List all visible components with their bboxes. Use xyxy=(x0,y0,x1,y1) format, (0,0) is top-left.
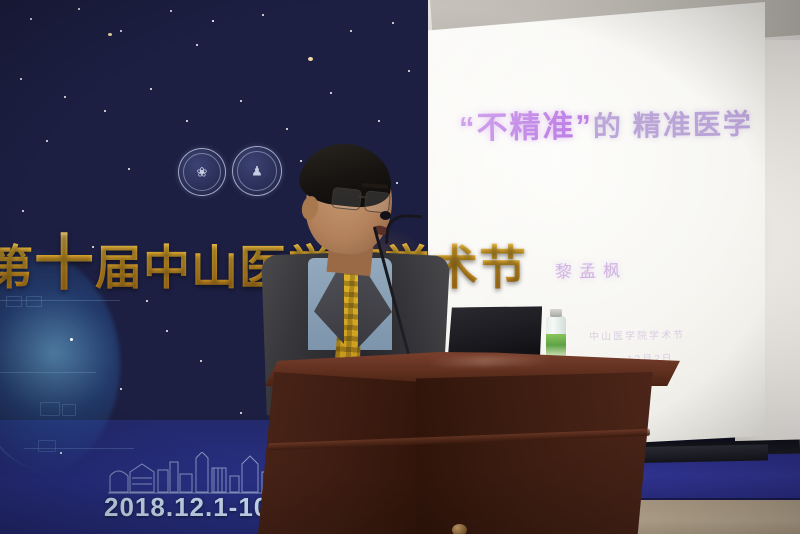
bottle-cap xyxy=(550,309,562,317)
podium-highlight xyxy=(430,355,550,367)
laptop-screen xyxy=(446,304,544,359)
podium-front-left xyxy=(258,372,418,534)
banner-tech-box xyxy=(40,402,60,416)
slide-title-highlight: “不精准” xyxy=(459,108,594,145)
banner-headline-numeral: 十 xyxy=(34,230,95,297)
lens-left xyxy=(331,187,362,211)
banner-date: 2018.12.1-10 xyxy=(104,492,269,523)
sun-yat-sen-university-emblem: ❀ xyxy=(178,148,226,196)
banner-tech-box xyxy=(38,440,56,452)
podium-front-right xyxy=(416,372,668,534)
slide-title: “不精准”的 精准医学 xyxy=(459,103,760,148)
banner-tech-line xyxy=(0,372,96,373)
emblem-mark: ♟ xyxy=(251,165,263,178)
slide-author: 黎孟枫 xyxy=(555,256,627,282)
bottle-label xyxy=(546,334,566,356)
podium-knob xyxy=(452,524,467,534)
microphone-head-icon xyxy=(380,211,391,220)
emblem-mark: ❀ xyxy=(197,166,208,179)
banner-headline-prefix: 第 xyxy=(0,241,34,294)
lecture-photo-scene: “不精准”的 精准医学 黎孟枫 中山医学院学术节 12月2日 xyxy=(0,0,800,534)
banner-tech-box xyxy=(62,404,76,416)
slide-title-rest: 的 精准医学 xyxy=(593,108,753,142)
slide-organization: 中山医学院学术节 xyxy=(589,326,685,343)
